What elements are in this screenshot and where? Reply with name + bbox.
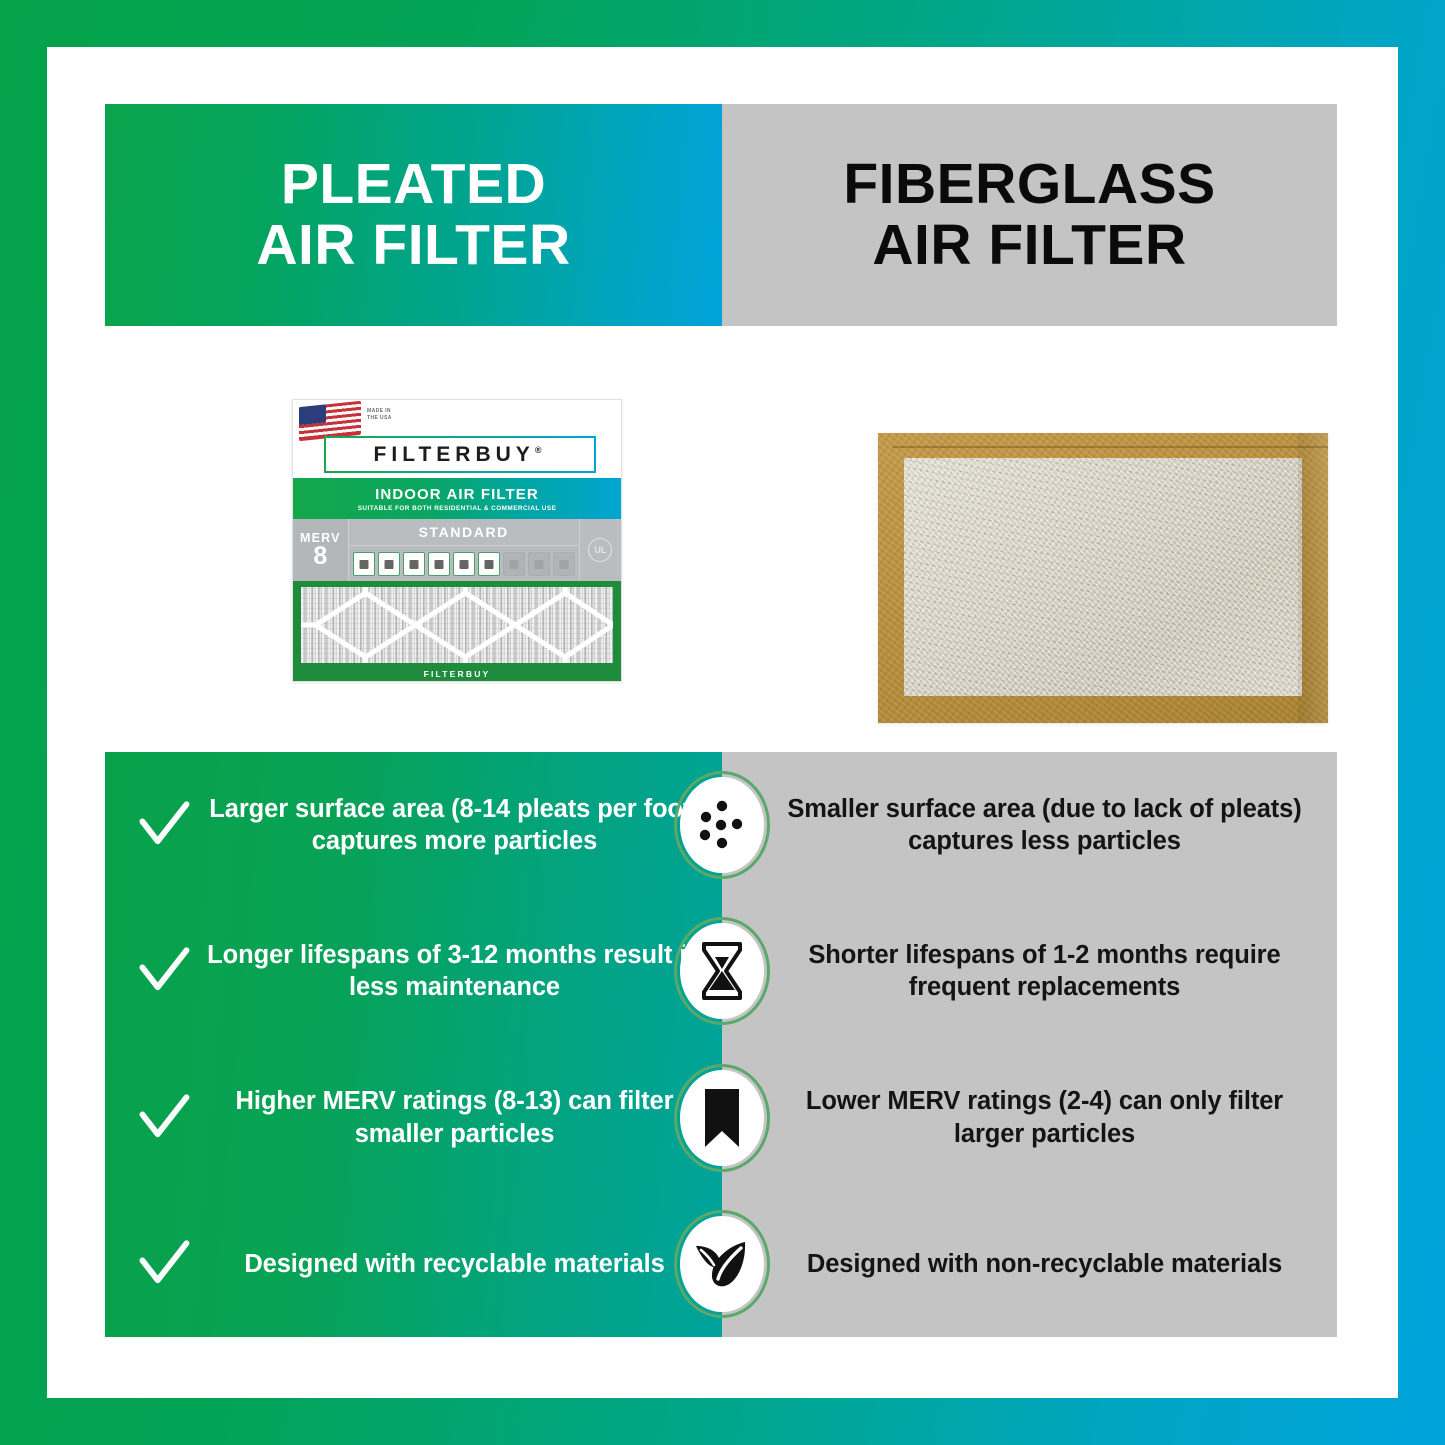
dust-lint-icon xyxy=(353,552,375,576)
header-fiberglass-line1: FIBERGLASS xyxy=(843,152,1215,216)
row-left-text-3: Higher MERV ratings (8-13) can filter sm… xyxy=(201,1085,708,1150)
fiberglass-filter-image xyxy=(878,433,1328,723)
comparison-row: Longer lifespans of 3-12 months result i… xyxy=(105,898,1337,1044)
comparison-row: Larger surface area (8-14 pleats per foo… xyxy=(105,752,1337,898)
checkmark-icon xyxy=(127,1237,201,1291)
band-title: INDOOR AIR FILTER xyxy=(375,486,539,503)
comparison-rows: Larger surface area (8-14 pleats per foo… xyxy=(105,752,1337,1337)
made-in-line1: MADE IN xyxy=(367,408,392,415)
row-left-text-2: Longer lifespans of 3-12 months result i… xyxy=(201,939,708,1004)
indoor-air-filter-band: INDOOR AIR FILTER SUITABLE FOR BOTH RESI… xyxy=(293,478,621,519)
header-fiberglass-title: FIBERGLASS AIR FILTER xyxy=(843,154,1215,276)
comparison-row: Higher MERV ratings (8-13) can filter sm… xyxy=(105,1045,1337,1191)
certification-area: UL xyxy=(579,519,621,581)
box-top-section: MADE IN THE USA FILTERBUY® xyxy=(293,400,621,478)
pleated-filter-box-image: MADE IN THE USA FILTERBUY® INDOOR AIR FI… xyxy=(292,399,622,682)
row-right-3: Lower MERV ratings (2-4) can only filter… xyxy=(722,1085,1337,1150)
fiberglass-media xyxy=(904,458,1302,696)
frame-seam-top xyxy=(892,446,1328,448)
capture-icon-strip xyxy=(349,546,579,581)
ul-listed-icon: UL xyxy=(588,538,612,562)
header-row: PLEATED AIR FILTER FIBERGLASS AIR FILTER xyxy=(105,104,1337,326)
row-left-2: Longer lifespans of 3-12 months result i… xyxy=(105,939,722,1004)
bookmark-ribbon-icon xyxy=(674,1064,770,1172)
box-footer-brand: FILTERBUY xyxy=(293,669,621,679)
made-in-line2: THE USA xyxy=(367,415,392,422)
checkmark-icon xyxy=(127,798,201,852)
hourglass-icon xyxy=(674,917,770,1025)
row-right-2: Shorter lifespans of 1-2 months require … xyxy=(722,939,1337,1004)
merv-badge: MERV 8 xyxy=(293,519,349,581)
made-in-usa-label: MADE IN THE USA xyxy=(367,408,392,422)
diamond-support-grid xyxy=(301,587,613,663)
header-pleated-line2: AIR FILTER xyxy=(256,215,570,276)
spec-strip: MERV 8 STANDARD xyxy=(293,519,621,581)
row-left-3: Higher MERV ratings (8-13) can filter sm… xyxy=(105,1085,722,1150)
checkmark-icon xyxy=(127,944,201,998)
pet-dander-icon xyxy=(478,552,500,576)
lint-icon xyxy=(453,552,475,576)
row-right-4: Designed with non-recyclable materials xyxy=(722,1248,1337,1280)
poster-background: PLEATED AIR FILTER FIBERGLASS AIR FILTER… xyxy=(0,0,1445,1445)
header-pleated: PLEATED AIR FILTER xyxy=(105,104,722,326)
merv-value: 8 xyxy=(313,545,327,569)
pleated-media-area: FILTERBUY xyxy=(293,581,621,682)
brand-name: FILTERBUY® xyxy=(374,443,547,467)
header-fiberglass: FIBERGLASS AIR FILTER xyxy=(722,104,1337,326)
frame-seam-right xyxy=(1298,433,1328,723)
row-right-text-3: Lower MERV ratings (2-4) can only filter… xyxy=(780,1085,1309,1150)
row-right-text-4: Designed with non-recyclable materials xyxy=(780,1248,1309,1280)
checkmark-icon xyxy=(127,1091,201,1145)
row-left-text-4: Designed with recyclable materials xyxy=(201,1248,708,1280)
band-subtitle: SUITABLE FOR BOTH RESIDENTIAL & COMMERCI… xyxy=(358,505,557,512)
comparison-row: Designed with recyclable materials Desig… xyxy=(105,1191,1337,1337)
product-image-row: MADE IN THE USA FILTERBUY® INDOOR AIR FI… xyxy=(105,326,1337,752)
header-pleated-line1: PLEATED xyxy=(281,152,546,216)
virus-icon xyxy=(553,552,575,576)
pollen-icon xyxy=(403,552,425,576)
particles-dots-icon xyxy=(674,771,770,879)
smoke-icon xyxy=(503,552,525,576)
row-left-text-1: Larger surface area (8-14 pleats per foo… xyxy=(201,793,708,858)
header-pleated-title: PLEATED AIR FILTER xyxy=(256,154,570,276)
pleated-media-texture xyxy=(301,587,613,663)
mold-icon xyxy=(428,552,450,576)
brand-logo-box: FILTERBUY® xyxy=(324,436,596,473)
row-left-1: Larger surface area (8-14 pleats per foo… xyxy=(105,793,722,858)
grade-label: STANDARD xyxy=(349,519,579,546)
row-left-4: Designed with recyclable materials xyxy=(105,1237,722,1291)
header-fiberglass-line2: AIR FILTER xyxy=(843,215,1215,276)
spec-middle: STANDARD xyxy=(349,519,579,581)
dust-mites-icon xyxy=(378,552,400,576)
row-right-1: Smaller surface area (due to lack of ple… xyxy=(722,793,1337,858)
poster-card: PLEATED AIR FILTER FIBERGLASS AIR FILTER… xyxy=(47,47,1398,1398)
bacteria-icon xyxy=(528,552,550,576)
row-right-text-1: Smaller surface area (due to lack of ple… xyxy=(780,793,1309,858)
comparison-panel: Larger surface area (8-14 pleats per foo… xyxy=(105,752,1337,1337)
row-right-text-2: Shorter lifespans of 1-2 months require … xyxy=(780,939,1309,1004)
leaf-sprout-icon xyxy=(674,1210,770,1318)
